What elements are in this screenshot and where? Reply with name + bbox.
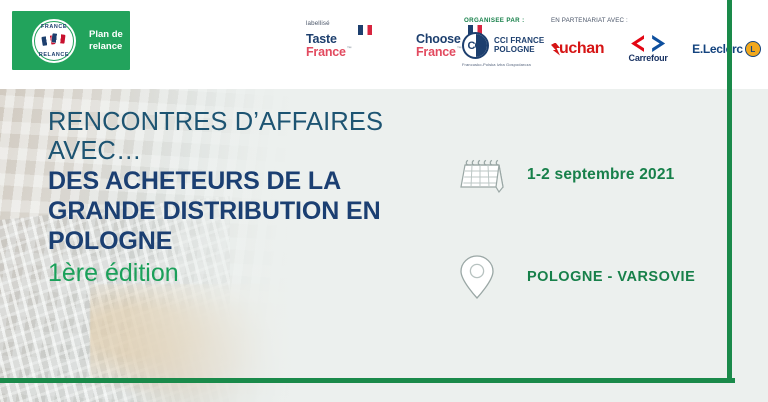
headline-bold-line-1: DES ACHETEURS DE LA [48, 167, 383, 196]
taste-france-logo: Taste France™ [306, 33, 364, 62]
seal-bottom-text: RELANCE [32, 52, 76, 58]
headline-light-line-2: AVEC… [48, 137, 383, 166]
plan-line-1: Plan de [89, 29, 123, 41]
taste-france-line2-text: France [306, 45, 346, 59]
page-title: RENCONTRES D’AFFAIRES AVEC… DES ACHETEUR… [48, 108, 383, 288]
labelled-logo-row: Taste France™ Choose France™ [306, 33, 474, 62]
headline-edition: 1ère édition [48, 258, 383, 288]
carrefour-logo: Carrefour [618, 35, 678, 63]
plan-line-2: relance [89, 41, 123, 53]
cci-mark-letters: CCi [468, 40, 484, 52]
headline-bold-line-2: GRANDE DISTRIBUTION EN [48, 197, 383, 226]
map-pin-icon [455, 252, 527, 302]
event-date-row: 1-2 septembre 2021 [455, 141, 695, 209]
seal-top-text: FRANCE [32, 24, 76, 30]
headline-light-line-1: RENCONTRES D’AFFAIRES [48, 108, 383, 137]
carrefour-mark-icon [631, 35, 665, 52]
event-details: 1-2 septembre 2021 POLOGNE - VARSOVIE [455, 141, 695, 311]
taste-france-line2: France™ [306, 46, 364, 62]
event-location-text: POLOGNE - VARSOVIE [527, 269, 695, 285]
carrefour-label: Carrefour [618, 53, 678, 63]
cci-mark-icon: CCi [462, 32, 489, 59]
leclerc-badge-icon: L [745, 41, 761, 57]
frame-corner [727, 378, 732, 383]
poster-body: RENCONTRES D’AFFAIRES AVEC… DES ACHETEUR… [0, 89, 768, 402]
organiser-group: ORGANISEE PAR : CCi CCI FRANCE POLOGNE F… [462, 17, 544, 67]
france-relance-seal-icon: FRANCE RELANCE [32, 19, 76, 63]
labelled-by-group: labellisé Taste France™ Choose France™ [306, 20, 330, 27]
labelled-eyebrow: labellisé [306, 20, 330, 27]
carrefour-right-chevron [652, 35, 665, 52]
carrefour-left-chevron [631, 35, 644, 52]
calendar-icon [455, 153, 527, 197]
choose-france-line2-text: France [416, 45, 456, 59]
plan-de-relance-label: Plan de relance [89, 29, 123, 53]
event-location-row: POLOGNE - VARSOVIE [455, 243, 695, 311]
auchan-label: uchan [559, 40, 604, 58]
event-date-text: 1-2 septembre 2021 [527, 166, 675, 184]
organiser-eyebrow: ORGANISEE PAR : [464, 17, 544, 24]
cci-name-line2: POLOGNE [494, 46, 544, 55]
french-flags-icon [42, 34, 66, 47]
cci-subtitle: Francusko-Polska Izba Gospodarcza [462, 62, 544, 67]
event-poster: FRANCE RELANCE Plan de relance labellisé… [0, 0, 768, 402]
frame-bottom-rule [0, 378, 735, 383]
frame-right-rule [727, 0, 732, 382]
flag-two [52, 33, 66, 44]
leclerc-label: E.Leclerc [692, 42, 743, 56]
france-relance-badge: FRANCE RELANCE Plan de relance [12, 11, 130, 70]
cci-name: CCI FRANCE POLOGNE [494, 37, 544, 54]
headline-bold-line-3: POLOGNE [48, 227, 383, 256]
logo-header-band: FRANCE RELANCE Plan de relance labellisé… [0, 0, 768, 89]
french-flag-icon [358, 25, 372, 35]
taste-france-tm: ™ [347, 46, 352, 52]
cci-logo: CCi CCI FRANCE POLOGNE [462, 32, 544, 59]
auchan-logo: uchan [551, 40, 604, 58]
choose-france-tm: ™ [457, 46, 462, 52]
